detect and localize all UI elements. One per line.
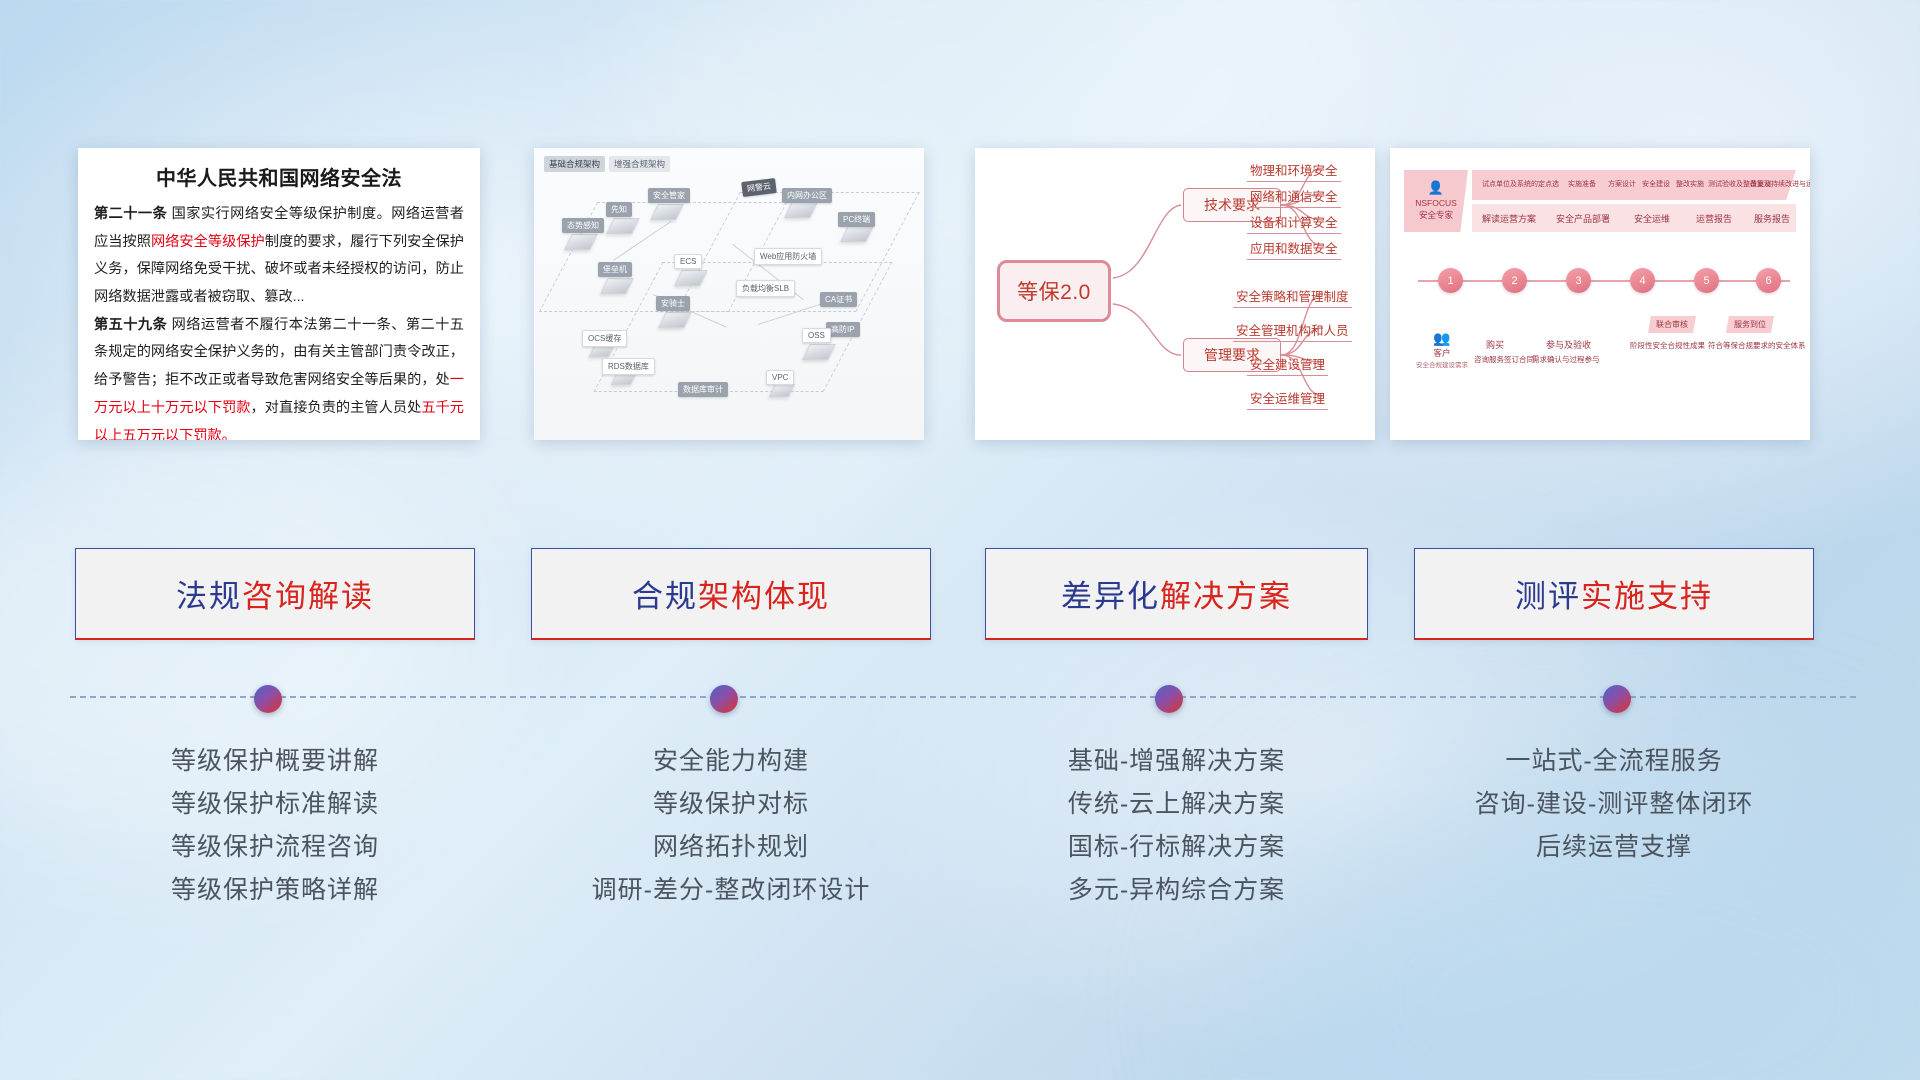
output-cell-5: 服务报告	[1754, 212, 1790, 225]
node-ca-certificate: CA证书	[820, 292, 857, 307]
detail-item: 传统-云上解决方案	[985, 783, 1368, 826]
label-1-red: 咨询解读	[242, 571, 374, 616]
label-1-blue: 法规	[176, 571, 242, 616]
node-web-application-firewall: Web应用防火墙	[754, 248, 822, 265]
node-load-balancer-slb: 负载均衡SLB	[736, 280, 795, 297]
law-article-21: 第二十一条 国家实行网络安全等级保护制度。网络运营者应当按照网络安全等级保护制度…	[94, 201, 464, 312]
foot-note-3: 阶段性安全合规性成果	[1630, 340, 1705, 351]
timeline-dot-1[interactable]	[254, 685, 282, 713]
leaf-device-computing-security: 设备和计算安全	[1247, 212, 1341, 234]
foot-item-2: 参与及验收	[1546, 338, 1591, 351]
detail-item: 安全能力构建	[531, 740, 931, 783]
card-roadmap[interactable]: 👤 NSFOCUS 安全专家 试点单位及系统的定点选 实施准备 方案设计 安全建…	[1390, 148, 1810, 440]
leaf-security-org-personnel: 安全管理机构和人员	[1233, 320, 1352, 342]
label-box-differentiated-solution[interactable]: 差异化解决方案	[985, 548, 1368, 640]
brand-subtitle: 安全专家	[1419, 210, 1453, 221]
cube-vpc	[769, 384, 795, 397]
detail-item: 调研-差分-整改闭环设计	[531, 869, 931, 912]
law-body: 中华人民共和国网络安全法 第二十一条 国家实行网络安全等级保护制度。网络运营者应…	[78, 148, 480, 440]
label-2-blue: 合规	[632, 571, 698, 616]
node-oss: OSS	[802, 328, 831, 343]
node-rds-database: RDS数据库	[602, 358, 655, 375]
detail-column-2: 安全能力构建 等级保护对标 网络拓扑规划 调研-差分-整改闭环设计	[531, 740, 931, 912]
roadmap-step-6[interactable]: 6	[1756, 268, 1781, 293]
node-vpc: VPC	[766, 370, 794, 385]
node-xianzhi: 先知	[606, 202, 632, 217]
card-architecture-diagram[interactable]: 基础合规架构 增强合规架构 态势感知 先知 安全管家	[534, 148, 924, 440]
detail-item: 国标-行标解决方案	[985, 826, 1368, 869]
customer-note: 安全合规建设需求	[1414, 359, 1470, 369]
article-21-highlight: 网络安全等级保护	[151, 234, 265, 250]
foot-item-1: 购买	[1486, 338, 1504, 351]
label-2-red: 架构体现	[698, 571, 830, 616]
detail-item: 等级保护流程咨询	[75, 826, 475, 869]
detail-item: 咨询-建设-测评整体闭环	[1414, 783, 1814, 826]
detail-item: 等级保护对标	[531, 783, 931, 826]
roadmap-step-1[interactable]: 1	[1438, 268, 1463, 293]
foot-note-4: 符合等保合规要求的安全体系	[1708, 340, 1806, 351]
roadmap-step-2[interactable]: 2	[1502, 268, 1527, 293]
mindmap-root-node: 等保2.0	[997, 260, 1111, 322]
output-cell-2: 安全产品部署	[1556, 212, 1610, 225]
phase-label-2: 实施准备	[1568, 179, 1596, 189]
roadmap-step-4[interactable]: 4	[1630, 268, 1655, 293]
article-21-label: 第二十一条	[94, 206, 167, 222]
slide-canvas: 中华人民共和国网络安全法 第二十一条 国家实行网络安全等级保护制度。网络运营者应…	[0, 0, 1920, 1080]
mindmap-canvas: 等保2.0 技术要求 物理和环境安全 网络和通信安全 设备和计算安全 应用和数据…	[975, 148, 1375, 440]
foot-item-3: 联合审核	[1648, 316, 1696, 333]
leaf-physical-environment-security: 物理和环境安全	[1247, 160, 1341, 182]
label-row: 法规咨询解读 合规架构体现 差异化解决方案 测评实施支持	[0, 548, 1920, 640]
node-security-butler: 安全管家	[648, 188, 690, 203]
timeline-dot-4[interactable]	[1603, 685, 1631, 713]
label-3-blue: 差异化	[1061, 571, 1160, 616]
leaf-security-ops-management: 安全运维管理	[1247, 388, 1328, 410]
article-59-text-b: ，对直接负责的主管人员处	[251, 400, 422, 416]
roadmap-canvas: 👤 NSFOCUS 安全专家 试点单位及系统的定点选 实施准备 方案设计 安全建…	[1390, 148, 1810, 440]
brand-badge: 👤 NSFOCUS 安全专家	[1404, 170, 1468, 232]
timeline-dot-3[interactable]	[1155, 685, 1183, 713]
article-59-label: 第五十九条	[94, 317, 167, 333]
detail-item: 网络拓扑规划	[531, 826, 931, 869]
foot-item-4: 服务到位	[1726, 316, 1774, 333]
label-box-compliance-architecture[interactable]: 合规架构体现	[531, 548, 931, 640]
architecture-canvas: 基础合规架构 增强合规架构 态势感知 先知 安全管家	[534, 148, 924, 440]
phase-label-4: 安全建设	[1642, 179, 1670, 189]
label-box-evaluation-support[interactable]: 测评实施支持	[1414, 548, 1814, 640]
detail-item: 等级保护概要讲解	[75, 740, 475, 783]
node-database-audit: 数据库审计	[678, 382, 728, 397]
node-ecs: ECS	[674, 254, 702, 269]
node-intranet-office: 内网办公区	[782, 188, 832, 203]
node-anti-ddos-ip: 高防IP	[826, 322, 860, 337]
detail-item: 等级保护标准解读	[75, 783, 475, 826]
customer-role: 客户	[1414, 347, 1470, 359]
output-cell-1: 解读运营方案	[1482, 212, 1536, 225]
node-anqishi: 安骑士	[656, 296, 690, 311]
tab-basic-compliance[interactable]: 基础合规架构	[544, 156, 605, 172]
phase-label-7: 备案及持续改进与运维服务	[1750, 179, 1810, 189]
roadmap-timeline	[1418, 280, 1790, 282]
node-bastion-host: 堡垒机	[598, 262, 632, 277]
leaf-application-data-security: 应用和数据安全	[1247, 238, 1341, 260]
node-pc-terminal: PC终端	[838, 212, 875, 227]
label-4-red: 实施支持	[1581, 571, 1713, 616]
phase-label-1: 试点单位及系统的定点选	[1482, 179, 1559, 189]
roadmap-step-5[interactable]: 5	[1694, 268, 1719, 293]
label-4-blue: 测评	[1515, 571, 1581, 616]
leaf-network-communication-security: 网络和通信安全	[1247, 186, 1341, 208]
image-card-row: 中华人民共和国网络安全法 第二十一条 国家实行网络安全等级保护制度。网络运营者应…	[0, 148, 1920, 448]
detail-item: 一站式-全流程服务	[1414, 740, 1814, 783]
node-ocs-cache: OCS缓存	[582, 330, 627, 347]
output-cell-3: 安全运维	[1634, 212, 1670, 225]
leaf-security-policy-system: 安全策略和管理制度	[1233, 286, 1352, 308]
law-article-59: 第五十九条 网络运营者不履行本法第二十一条、第二十五条规定的网络安全保护义务的，…	[94, 312, 464, 440]
label-box-regulation-consulting[interactable]: 法规咨询解读	[75, 548, 475, 640]
detail-item: 多元-异构综合方案	[985, 869, 1368, 912]
detail-column-1: 等级保护概要讲解 等级保护标准解读 等级保护流程咨询 等级保护策略详解	[75, 740, 475, 912]
label-3-red: 解决方案	[1160, 571, 1292, 616]
card-mindmap[interactable]: 等保2.0 技术要求 物理和环境安全 网络和通信安全 设备和计算安全 应用和数据…	[975, 148, 1375, 440]
tab-enhanced-compliance[interactable]: 增强合规架构	[609, 156, 670, 172]
law-title: 中华人民共和国网络安全法	[94, 162, 464, 191]
foot-note-1: 咨询服务签订合同	[1474, 354, 1534, 365]
detail-item: 基础-增强解决方案	[985, 740, 1368, 783]
customer-block: 👥 客户 安全合规建设需求	[1414, 330, 1470, 369]
leaf-security-construction-management: 安全建设管理	[1247, 354, 1328, 376]
foot-note-2: 需求确认与过程参与	[1532, 354, 1600, 365]
detail-item: 后续运营支撑	[1414, 826, 1814, 869]
roadmap-step-3[interactable]: 3	[1566, 268, 1591, 293]
customer-icon: 👥	[1414, 330, 1470, 347]
phase-label-5: 整改实施	[1676, 179, 1704, 189]
detail-column-4: 一站式-全流程服务 咨询-建设-测评整体闭环 后续运营支撑	[1414, 740, 1814, 869]
architecture-tabs: 基础合规架构 增强合规架构	[544, 156, 670, 172]
brand-name: NSFOCUS	[1415, 198, 1457, 209]
detail-item: 等级保护策略详解	[75, 869, 475, 912]
timeline-dashed-line	[70, 696, 1856, 698]
card-law-document[interactable]: 中华人民共和国网络安全法 第二十一条 国家实行网络安全等级保护制度。网络运营者应…	[78, 148, 480, 440]
node-situational-awareness: 态势感知	[562, 218, 604, 233]
output-cell-4: 运营报告	[1696, 212, 1732, 225]
detail-column-3: 基础-增强解决方案 传统-云上解决方案 国标-行标解决方案 多元-异构综合方案	[985, 740, 1368, 912]
architecture-plane: 态势感知 先知 安全管家 网警云 堡垒机 安骑士 OCS缓存 ECS	[558, 174, 902, 420]
phase-label-3: 方案设计	[1608, 179, 1636, 189]
timeline-dot-2[interactable]	[710, 685, 738, 713]
person-icon: 👤	[1428, 181, 1444, 194]
